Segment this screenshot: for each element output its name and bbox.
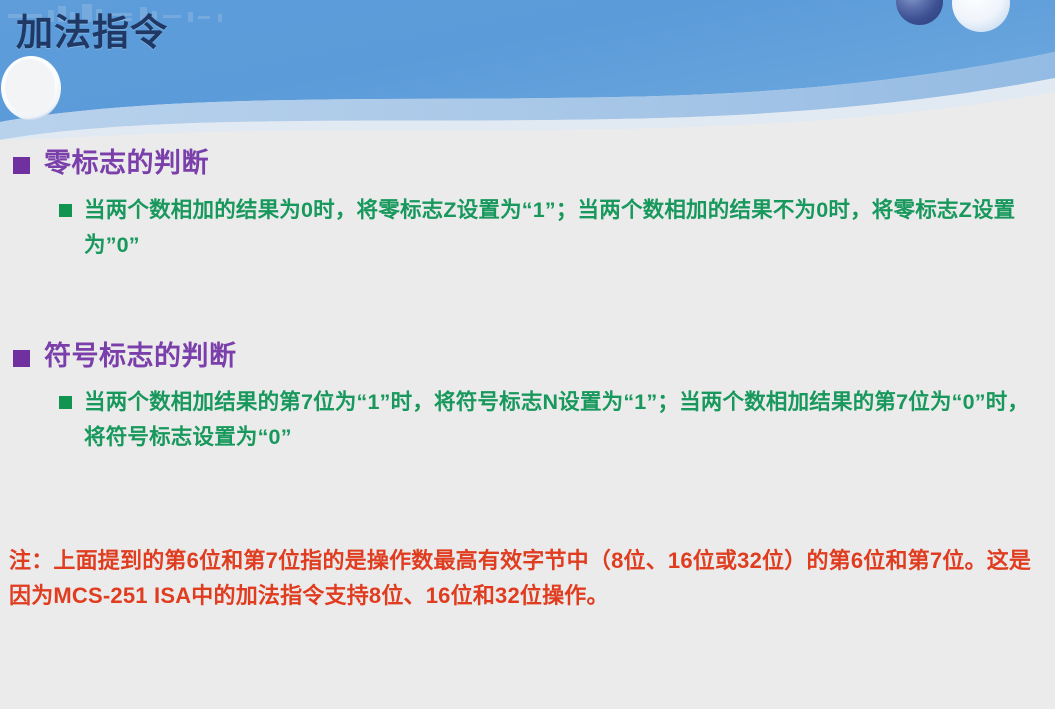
bullet-item-label: 当两个数相加结果的第7位为“1”时，将符号标志N设置为“1”；当两个数相加结果的… xyxy=(84,385,1043,455)
square-bullet-icon xyxy=(59,204,72,217)
bullet-item-row: 当两个数相加结果的第7位为“1”时，将符号标志N设置为“1”；当两个数相加结果的… xyxy=(0,385,1055,455)
slide-body: 零标志的判断 当两个数相加的结果为0时，将零标志Z设置为“1”；当两个数相加的结… xyxy=(0,140,1055,455)
slide-canvas: 加法指令 零标志的判断 当两个数相加的结果为0时，将零标志Z设置为“1”；当两个… xyxy=(0,0,1055,709)
section-heading-label: 零标志的判断 xyxy=(44,148,209,180)
bullet-item-row: 当两个数相加的结果为0时，将零标志Z设置为“1”；当两个数相加的结果不为0时，将… xyxy=(0,193,1055,263)
section-heading-row: 符号标志的判断 xyxy=(0,341,1055,373)
square-bullet-icon xyxy=(59,396,72,409)
bullet-item-label: 当两个数相加的结果为0时，将零标志Z设置为“1”；当两个数相加的结果不为0时，将… xyxy=(84,193,1043,263)
note-paragraph: 注：上面提到的第6位和第7位指的是操作数最高有效字节中（8位、16位或32位）的… xyxy=(9,544,1051,614)
square-bullet-icon xyxy=(13,350,30,367)
slide-header-banner: 加法指令 xyxy=(0,0,1055,140)
header-left-white-circle-decoration xyxy=(5,59,55,115)
square-bullet-icon xyxy=(13,157,30,174)
slide-title: 加法指令 xyxy=(16,14,168,51)
section-zero-flag: 零标志的判断 当两个数相加的结果为0时，将零标志Z设置为“1”；当两个数相加的结… xyxy=(0,148,1055,263)
section-heading-row: 零标志的判断 xyxy=(0,148,1055,180)
section-sign-flag: 符号标志的判断 当两个数相加结果的第7位为“1”时，将符号标志N设置为“1”；当… xyxy=(0,341,1055,456)
section-heading-label: 符号标志的判断 xyxy=(44,341,237,373)
